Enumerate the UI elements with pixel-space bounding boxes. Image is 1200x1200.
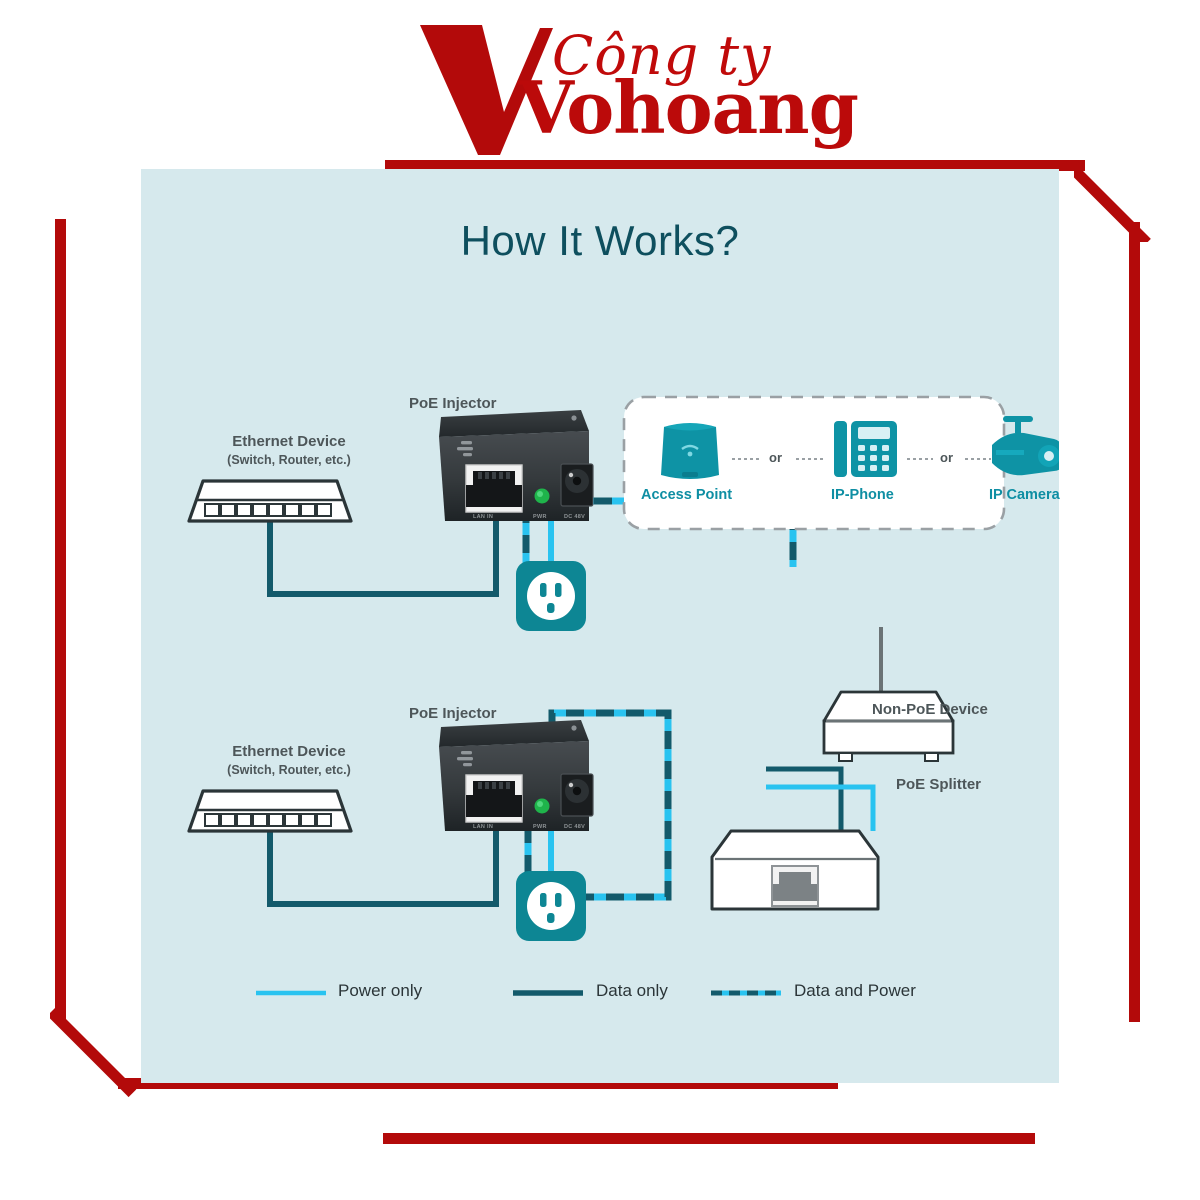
injector-bottom-dc-label: DC 48V bbox=[564, 824, 585, 830]
poe-splitter-label: PoE Splitter bbox=[896, 776, 981, 793]
injector-bottom-pwr-label: PWR bbox=[533, 824, 547, 830]
poe-diagram bbox=[141, 169, 1059, 1083]
non-poe-device bbox=[824, 627, 953, 761]
ethernet-device-bottom-sublabel: (Switch, Router, etc.) bbox=[209, 763, 369, 777]
logo-name-text: Vohoang bbox=[518, 65, 858, 150]
frame-line-right bbox=[1129, 222, 1140, 1022]
injector-top-dc-label: DC 48V bbox=[564, 514, 585, 520]
access-point-icon bbox=[661, 423, 719, 479]
power-outlet-top bbox=[516, 561, 586, 631]
ip-phone-label: IP-Phone bbox=[831, 487, 894, 503]
ethernet-device-bottom-label: Ethernet Device bbox=[209, 743, 369, 760]
legend-label-data-and-power: Data and Power bbox=[794, 981, 916, 1001]
legend-label-power-only: Power only bbox=[338, 981, 422, 1001]
poe-splitter bbox=[712, 831, 878, 909]
frame-corner-top-right bbox=[1074, 152, 1164, 242]
non-poe-device-label: Non-PoE Device bbox=[872, 701, 988, 718]
poe-injector-top-label: PoE Injector bbox=[409, 395, 497, 412]
or-label-1: or bbox=[769, 450, 782, 465]
diagram-panel: How It Works? bbox=[141, 169, 1059, 1083]
or-label-2: or bbox=[940, 450, 953, 465]
injector-bottom-lan-label: LAN IN bbox=[473, 824, 493, 830]
ethernet-device-top bbox=[189, 481, 351, 521]
ethernet-device-top-sublabel: (Switch, Router, etc.) bbox=[209, 453, 369, 467]
ethernet-device-top-label: Ethernet Device bbox=[209, 433, 369, 450]
cable-splitter-power bbox=[766, 787, 873, 831]
cable-data-bottom bbox=[270, 831, 496, 904]
ip-phone-icon bbox=[834, 421, 897, 477]
power-outlet-bottom bbox=[516, 871, 586, 941]
cable-data-top bbox=[270, 521, 496, 594]
access-point-label: Access Point bbox=[641, 487, 732, 503]
ethernet-device-bottom bbox=[189, 791, 351, 831]
poe-injector-bottom bbox=[439, 720, 593, 831]
page-root: Công ty Vohoang How It Works? bbox=[0, 0, 1200, 1200]
poe-injector-top bbox=[439, 410, 593, 521]
frame-line-left bbox=[55, 219, 66, 1019]
frame-accent-bar bbox=[383, 1133, 1035, 1144]
injector-top-pwr-label: PWR bbox=[533, 514, 547, 520]
cable-splitter-data bbox=[766, 769, 841, 831]
legend-label-data-only: Data only bbox=[596, 981, 668, 1001]
poe-injector-bottom-label: PoE Injector bbox=[409, 705, 497, 722]
ip-camera-label: IP Camera bbox=[989, 487, 1060, 503]
brand-logo: Công ty Vohoang bbox=[400, 10, 850, 160]
injector-top-lan-label: LAN IN bbox=[473, 514, 493, 520]
